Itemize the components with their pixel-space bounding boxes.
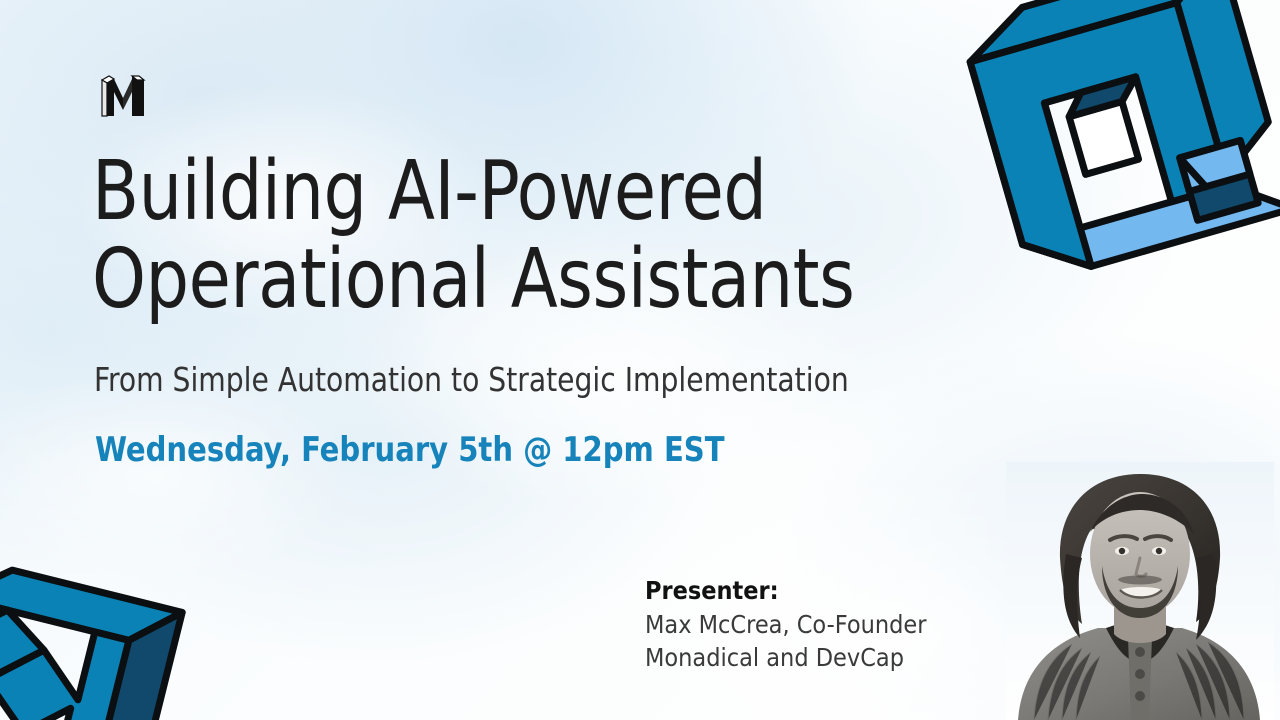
page-title: Building AI-Powered Operational Assistan… bbox=[92, 148, 910, 323]
headline-line-1: Building AI-Powered bbox=[92, 148, 910, 236]
event-date: Wednesday, February 5th @ 12pm EST bbox=[95, 430, 725, 471]
webinar-slide: Building AI-Powered Operational Assistan… bbox=[0, 0, 1280, 720]
presenter-headshot bbox=[1006, 462, 1274, 720]
presenter-label: Presenter: bbox=[645, 574, 926, 608]
monadical-m-logo-icon bbox=[96, 70, 150, 124]
presenter-organizations: Monadical and DevCap bbox=[645, 641, 926, 675]
subtitle: From Simple Automation to Strategic Impl… bbox=[94, 360, 849, 400]
3d-m-logo-top-right-icon bbox=[925, 0, 1280, 359]
presenter-block: Presenter: Max McCrea, Co-Founder Monadi… bbox=[645, 574, 926, 675]
headline-line-2: Operational Assistants bbox=[92, 236, 910, 324]
presenter-name-role: Max McCrea, Co-Founder bbox=[645, 608, 926, 642]
3d-m-logo-bottom-left-icon bbox=[0, 476, 245, 720]
